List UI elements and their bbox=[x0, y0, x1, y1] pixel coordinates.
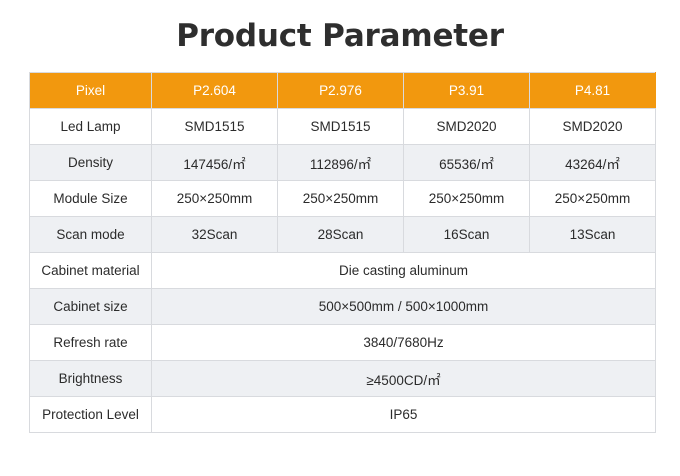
row-label-cabinet-material: Cabinet material bbox=[30, 253, 152, 289]
cell-density-p3-91: 65536/㎡ bbox=[404, 145, 530, 181]
cell-scan-mode-p2-604: 32Scan bbox=[152, 217, 278, 253]
cell-protection-level-value: IP65 bbox=[152, 397, 656, 433]
row-label-protection-level: Protection Level bbox=[30, 397, 152, 433]
column-header-p2-604: P2.604 bbox=[152, 73, 278, 109]
table-row: Cabinet material Die casting aluminum bbox=[30, 253, 656, 289]
cell-refresh-rate-value: 3840/7680Hz bbox=[152, 325, 656, 361]
row-label-module-size: Module Size bbox=[30, 181, 152, 217]
cell-led-lamp-p2-604: SMD1515 bbox=[152, 109, 278, 145]
cell-module-size-p2-976: 250×250mm bbox=[278, 181, 404, 217]
table-row: Protection Level IP65 bbox=[30, 397, 656, 433]
spec-table-container: Pixel P2.604 P2.976 P3.91 P4.81 Led Lamp… bbox=[29, 72, 655, 433]
row-label-density: Density bbox=[30, 145, 152, 181]
cell-scan-mode-p3-91: 16Scan bbox=[404, 217, 530, 253]
cell-density-p4-81: 43264/㎡ bbox=[530, 145, 656, 181]
row-label-cabinet-size: Cabinet size bbox=[30, 289, 152, 325]
table-row: Cabinet size 500×500mm / 500×1000mm bbox=[30, 289, 656, 325]
cell-led-lamp-p2-976: SMD1515 bbox=[278, 109, 404, 145]
page-title: Product Parameter bbox=[0, 18, 680, 54]
column-header-pixel: Pixel bbox=[30, 73, 152, 109]
row-label-refresh-rate: Refresh rate bbox=[30, 325, 152, 361]
table-row: Scan mode 32Scan 28Scan 16Scan 13Scan bbox=[30, 217, 656, 253]
product-parameter-page: Product Parameter Pixel P2.604 P2.976 P3… bbox=[0, 0, 680, 476]
table-header: Pixel P2.604 P2.976 P3.91 P4.81 bbox=[30, 73, 656, 109]
table-row: Module Size 250×250mm 250×250mm 250×250m… bbox=[30, 181, 656, 217]
cell-led-lamp-p3-91: SMD2020 bbox=[404, 109, 530, 145]
table-row: Refresh rate 3840/7680Hz bbox=[30, 325, 656, 361]
row-label-scan-mode: Scan mode bbox=[30, 217, 152, 253]
table-row: Brightness ≥4500CD/㎡ bbox=[30, 361, 656, 397]
cell-module-size-p3-91: 250×250mm bbox=[404, 181, 530, 217]
cell-cabinet-material-value: Die casting aluminum bbox=[152, 253, 656, 289]
table-row: Led Lamp SMD1515 SMD1515 SMD2020 SMD2020 bbox=[30, 109, 656, 145]
table-header-row: Pixel P2.604 P2.976 P3.91 P4.81 bbox=[30, 73, 656, 109]
cell-density-p2-976: 112896/㎡ bbox=[278, 145, 404, 181]
cell-density-p2-604: 147456/㎡ bbox=[152, 145, 278, 181]
row-label-led-lamp: Led Lamp bbox=[30, 109, 152, 145]
table-body: Led Lamp SMD1515 SMD1515 SMD2020 SMD2020… bbox=[30, 109, 656, 433]
cell-led-lamp-p4-81: SMD2020 bbox=[530, 109, 656, 145]
column-header-p4-81: P4.81 bbox=[530, 73, 656, 109]
row-label-brightness: Brightness bbox=[30, 361, 152, 397]
column-header-p3-91: P3.91 bbox=[404, 73, 530, 109]
cell-module-size-p4-81: 250×250mm bbox=[530, 181, 656, 217]
column-header-p2-976: P2.976 bbox=[278, 73, 404, 109]
cell-cabinet-size-value: 500×500mm / 500×1000mm bbox=[152, 289, 656, 325]
table-row: Density 147456/㎡ 112896/㎡ 65536/㎡ 43264/… bbox=[30, 145, 656, 181]
cell-brightness-value: ≥4500CD/㎡ bbox=[152, 361, 656, 397]
cell-scan-mode-p4-81: 13Scan bbox=[530, 217, 656, 253]
product-parameter-table: Pixel P2.604 P2.976 P3.91 P4.81 Led Lamp… bbox=[29, 72, 656, 433]
cell-module-size-p2-604: 250×250mm bbox=[152, 181, 278, 217]
cell-scan-mode-p2-976: 28Scan bbox=[278, 217, 404, 253]
